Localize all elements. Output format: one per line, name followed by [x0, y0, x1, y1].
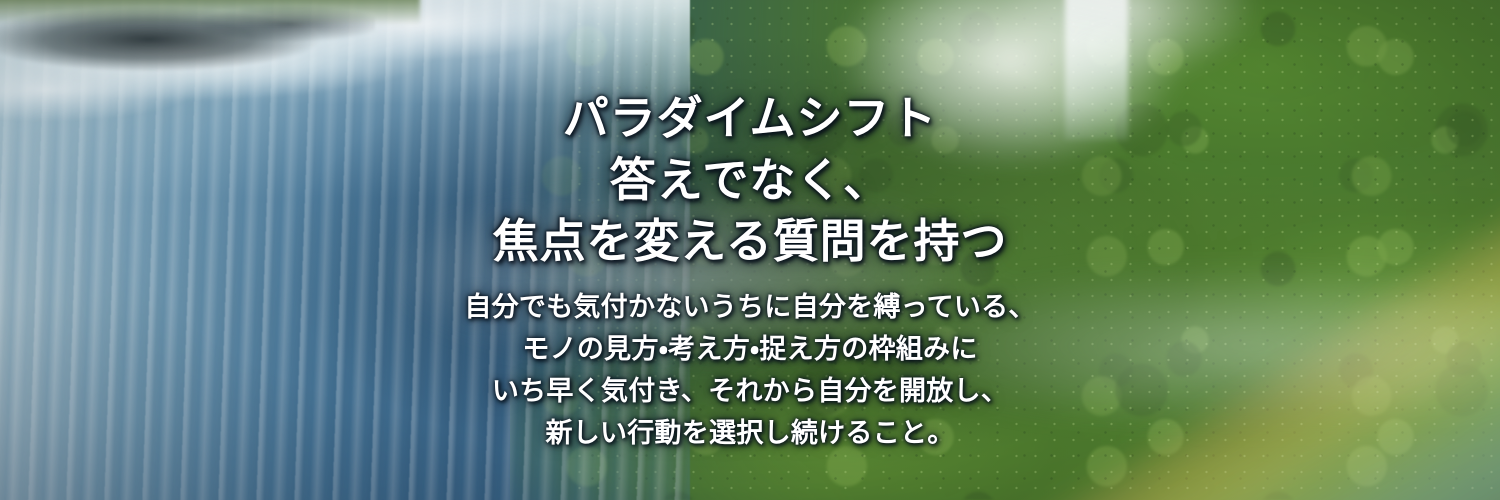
subcopy-line-1: 自分でも気付かないうちに自分を縛っている、: [464, 287, 1035, 329]
headline-line-1: パラダイムシフト: [493, 88, 1008, 150]
subcopy-line-4: 新しい行動を選択し続けること。: [464, 413, 1035, 455]
banner-content: パラダイムシフト 答えでなく、 焦点を変える質問を持つ 自分でも気付かないうちに…: [0, 0, 1500, 500]
subcopy-line-2: モノの見方・考え方・捉え方の枠組みに: [464, 329, 1035, 371]
headline-line-2: 答えでなく、: [493, 150, 1008, 212]
headline: パラダイムシフト 答えでなく、 焦点を変える質問を持つ: [493, 88, 1008, 273]
hero-banner: パラダイムシフト 答えでなく、 焦点を変える質問を持つ 自分でも気付かないうちに…: [0, 0, 1500, 500]
subcopy: 自分でも気付かないうちに自分を縛っている、 モノの見方・考え方・捉え方の枠組みに…: [464, 287, 1035, 455]
subcopy-line-3: いち早く気付き、それから自分を開放し、: [464, 371, 1035, 413]
headline-line-3: 焦点を変える質問を持つ: [493, 211, 1008, 273]
